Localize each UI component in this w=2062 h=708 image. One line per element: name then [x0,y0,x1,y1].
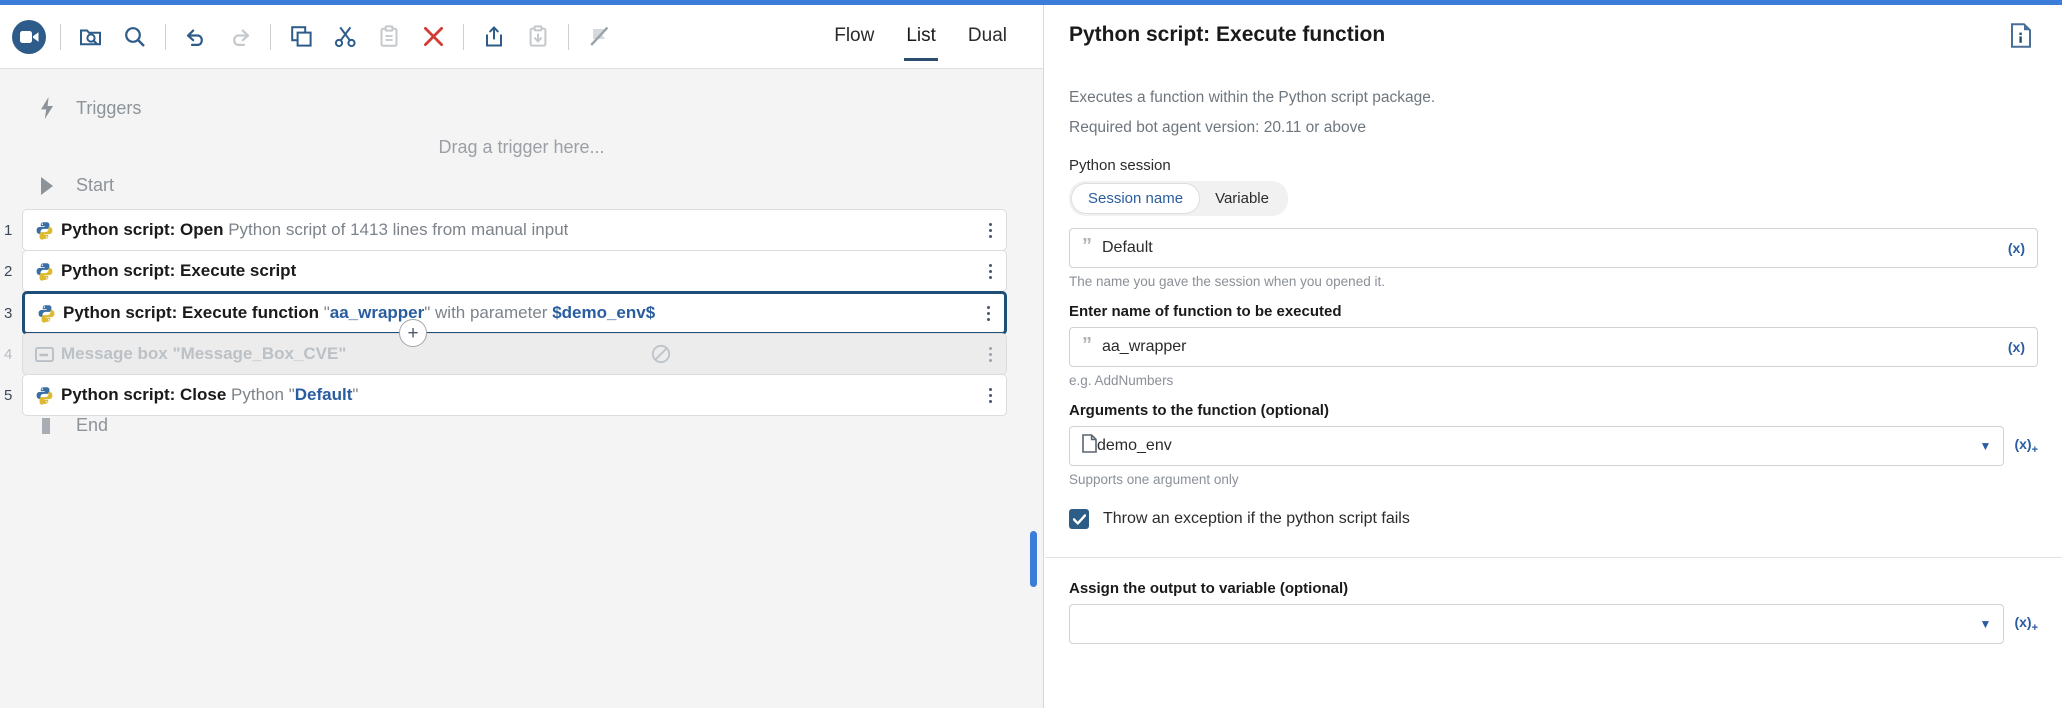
left-pane-scrollbar[interactable] [1030,531,1037,587]
arguments-value: demo_env [1097,437,1980,455]
stop-square-icon [36,418,58,434]
row-number: 3 [0,305,22,322]
flow-list-area: Triggers Drag a trigger here... Start 1 [0,69,1043,708]
folder-search-icon [79,26,103,48]
insert-variable-button[interactable]: (x)+ [2014,436,2038,456]
python-session-field: Python session Session name Variable ” D… [1045,157,2062,289]
chevron-down-icon: ▼ [1980,439,1992,453]
quote-open: " [319,303,330,322]
function-name-value: aa_wrapper [1102,338,2008,356]
clipboard-paste-icon [378,25,400,48]
row-menu-button[interactable] [975,388,992,403]
file-icon [1082,434,1097,458]
insert-variable-button[interactable]: (x)+ [2014,614,2038,634]
step-label-mid: with parameter [430,303,552,322]
python-icon [37,304,63,323]
quote-icon: ” [1082,236,1092,256]
view-mode-tabs: Flow List Dual [834,5,1007,69]
toolbar-divider [165,24,166,50]
magnifier-icon [123,25,147,49]
triggers-node[interactable]: Triggers [36,97,141,119]
quote-close: " [352,385,358,404]
tab-flow[interactable]: Flow [834,23,874,52]
video-record-icon [20,30,39,44]
undo-button[interactable] [174,15,218,59]
step-card-message-box[interactable]: Message box "Message_Box_CVE" [22,333,1007,375]
step-label: Python script: Execute function "aa_wrap… [63,303,655,323]
play-triangle-icon [36,177,58,195]
quote-close: " [338,344,346,363]
panel-version-note: Required bot agent version: 20.11 or abo… [1069,113,2038,143]
step-label-quoted: Message_Box_CVE [181,344,339,363]
section-divider [1045,557,2062,558]
copy-button[interactable] [279,15,323,59]
row-number: 5 [0,387,22,404]
output-variable-select[interactable]: ▼ [1069,604,2004,644]
redo-arrow-icon [228,26,252,48]
arguments-row: demo_env ▼ (x)+ [1069,426,2038,466]
toolbar-divider [568,24,569,50]
checkmark-icon [1073,514,1086,525]
end-node: End [36,415,1007,436]
session-mode-segmented-control: Session name Variable [1069,181,1288,216]
properties-panel: Python script: Execute function Executes… [1045,5,2062,708]
session-name-value: Default [1102,239,2008,257]
row-menu-button[interactable] [975,264,992,279]
row-menu-button[interactable] [975,223,992,238]
output-variable-label: Assign the output to variable (optional) [1069,580,2038,597]
search-button[interactable] [113,15,157,59]
table-row[interactable]: 4 Message box "Message_Box_CVE" [0,333,1007,375]
undo-arrow-icon [184,26,208,48]
cut-button[interactable] [323,15,367,59]
table-row[interactable]: 1 Python script: Open Python script of 1… [0,209,1007,251]
step-label-bold: Python script: Open [61,220,223,239]
step-label-rest: Python script of 1413 lines from manual … [223,220,568,239]
step-label-mid: Python [226,385,288,404]
table-row[interactable]: 3 Python script: Execute function "aa_wr… [0,291,1007,335]
panel-description: Executes a function within the Python sc… [1045,83,2062,143]
disable-line-button[interactable] [577,15,621,59]
step-card-python-execute-function[interactable]: Python script: Execute function "aa_wrap… [22,291,1007,335]
lightning-icon [36,97,58,119]
step-label-bold: Python script: Execute script [61,261,296,280]
slashed-flag-icon [588,25,611,48]
add-step-button[interactable]: + [399,319,427,347]
delete-button[interactable] [411,15,455,59]
output-variable-row: ▼ (x)+ [1069,604,2038,644]
output-variable-field: Assign the output to variable (optional)… [1045,580,2062,644]
panel-header: Python script: Execute function [1045,5,2062,53]
step-label-variable: $demo_env$ [552,303,655,322]
insert-variable-button[interactable]: (x) [2008,240,2025,256]
step-label: Python script: Execute script [61,261,296,281]
toolbar-divider [270,24,271,50]
export-button[interactable] [472,15,516,59]
arguments-hint: Supports one argument only [1069,472,2038,487]
start-label: Start [76,175,114,196]
toolbar-divider [463,24,464,50]
step-card-python-open[interactable]: Python script: Open Python script of 141… [22,209,1007,251]
step-label: Python script: Close Python "Default" [61,385,358,405]
row-menu-button[interactable] [975,347,992,362]
arguments-label: Arguments to the function (optional) [1069,402,2038,419]
red-x-icon [422,25,445,48]
step-card-python-execute-script[interactable]: Python script: Execute script [22,250,1007,292]
editor-left-pane: Flow List Dual Triggers Drag a trigger h… [0,5,1044,708]
step-card-python-close[interactable]: Python script: Close Python "Default" [22,374,1007,416]
editor-toolbar: Flow List Dual [0,5,1043,69]
step-label-bold: Python script: Close [61,385,226,404]
function-name-hint: e.g. AddNumbers [1069,373,2038,388]
quote-icon: ” [1082,335,1092,355]
chevron-down-icon: ▼ [1980,617,1992,631]
app-root: Flow List Dual Triggers Drag a trigger h… [0,0,2062,708]
download-box-icon [527,25,549,48]
redo-button[interactable] [218,15,262,59]
insert-variable-button[interactable]: (x) [2008,339,2025,355]
row-number: 2 [0,263,22,280]
python-icon [35,221,61,240]
table-row[interactable]: 5 Python script: Close Python "Default" [0,374,1007,416]
page-title: Python script: Execute function [1069,23,1385,47]
arguments-select[interactable]: demo_env ▼ [1069,426,2004,466]
step-label: Python script: Open Python script of 141… [61,220,568,240]
quote-open: " [168,344,181,363]
toolbar-divider [60,24,61,50]
upload-box-icon [483,25,505,48]
arguments-field: Arguments to the function (optional) dem… [1045,402,2062,529]
row-menu-button[interactable] [973,306,990,321]
row-number: 4 [0,346,22,363]
step-label-bold: Message box [61,344,168,363]
session-name-input[interactable]: ” Default (x) [1069,228,2038,268]
import-button[interactable] [516,15,560,59]
paste-button[interactable] [367,15,411,59]
record-button[interactable] [12,20,46,54]
python-icon [35,386,61,405]
function-name-field: Enter name of function to be executed ” … [1045,303,2062,388]
throw-exception-checkbox[interactable] [1069,509,1089,529]
drag-trigger-hint[interactable]: Drag a trigger here... [0,137,1043,158]
segment-session-name[interactable]: Session name [1072,184,1199,213]
triggers-section[interactable]: Triggers [36,97,1007,119]
throw-exception-row[interactable]: Throw an exception if the python script … [1069,509,2038,529]
panel-description-text: Executes a function within the Python sc… [1069,83,2038,113]
step-label-bold: Python script: Execute function [63,303,319,322]
step-label-quoted: Default [295,385,353,404]
function-name-input[interactable]: ” aa_wrapper (x) [1069,327,2038,367]
function-name-label: Enter name of function to be executed [1069,303,2038,320]
segment-variable[interactable]: Variable [1199,184,1285,213]
start-node: Start [36,175,1007,196]
step-label: Message box "Message_Box_CVE" [61,344,346,364]
document-info-icon[interactable] [2010,23,2032,53]
copy-icon [290,25,313,48]
tab-dual[interactable]: Dual [968,23,1007,52]
disabled-indicator-icon [651,344,671,364]
throw-exception-label: Throw an exception if the python script … [1103,510,1410,528]
python-icon [35,262,61,281]
triggers-label: Triggers [76,98,141,119]
row-number: 1 [0,222,22,239]
python-session-label: Python session [1069,157,2038,174]
table-row[interactable]: 2 Python script: Execute script [0,250,1007,292]
scissors-icon [334,25,357,48]
tab-list[interactable]: List [906,23,936,52]
message-box-icon [35,346,61,363]
session-name-hint: The name you gave the session when you o… [1069,274,2038,289]
end-label: End [76,415,108,436]
find-in-folder-button[interactable] [69,15,113,59]
